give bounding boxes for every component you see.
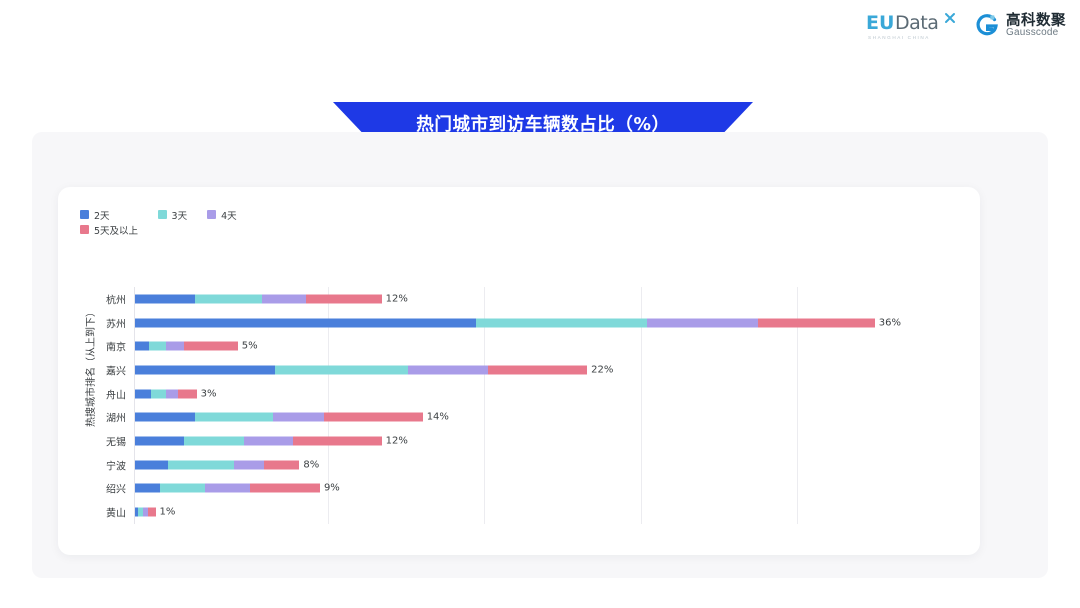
bar-segment-3天[interactable] <box>160 484 205 493</box>
bar-value-label: 8% <box>303 459 319 470</box>
stacked-bar[interactable] <box>135 342 238 351</box>
gausscode-text: 高科数聚 Gausscode <box>1006 14 1066 39</box>
gausscode-logo: 高科数聚 Gausscode <box>974 13 1066 39</box>
bar-segment-2天[interactable] <box>135 484 160 493</box>
bar-segment-3天[interactable] <box>195 294 263 303</box>
bar-row[interactable]: 宁波8% <box>58 453 980 477</box>
bar-row[interactable]: 苏州36% <box>58 311 980 335</box>
evdata-logotype-icon: E U Data <box>866 12 958 34</box>
bar-segment-4天[interactable] <box>262 294 305 303</box>
bar-value-label: 12% <box>386 435 408 446</box>
bar-value-label: 3% <box>201 388 217 399</box>
bar-segment-3天[interactable] <box>195 413 273 422</box>
bar-segment-4天[interactable] <box>166 342 184 351</box>
bar-segment-2天[interactable] <box>135 413 195 422</box>
bar-segment-2天[interactable] <box>135 365 275 374</box>
bar-row[interactable]: 舟山3% <box>58 382 980 406</box>
bar-row[interactable]: 湖州14% <box>58 405 980 429</box>
bar-row[interactable]: 无锡12% <box>58 429 980 453</box>
brand-bar: E U Data SHANGHAI CHINA 高科数聚 Gausscode <box>866 12 1066 40</box>
stacked-bar[interactable] <box>135 413 423 422</box>
bar-segment-5天及以上[interactable] <box>306 294 382 303</box>
gausscode-en-label: Gausscode <box>1006 28 1066 38</box>
bar-segment-5天及以上[interactable] <box>178 389 196 398</box>
stacked-bar[interactable] <box>135 318 875 327</box>
chart-card: 2天3天4天5天及以上 热搜城市排名（从上到下） 杭州12%苏州36%南京5%嘉… <box>58 187 980 555</box>
stacked-bar[interactable] <box>135 389 197 398</box>
bar-value-label: 1% <box>160 507 176 518</box>
bar-row[interactable]: 南京5% <box>58 334 980 358</box>
slide-root: E U Data SHANGHAI CHINA 高科数聚 Gausscode 热… <box>0 0 1080 608</box>
y-axis-tick-label: 无锡 <box>106 433 126 448</box>
y-axis-tick-label: 苏州 <box>106 315 126 330</box>
evdata-wordmark: E U Data <box>866 12 958 34</box>
gausscode-mark-icon <box>974 13 1000 39</box>
svg-text:Data: Data <box>895 12 938 34</box>
stacked-bar[interactable] <box>135 484 320 493</box>
bar-segment-4天[interactable] <box>166 389 178 398</box>
bar-segment-2天[interactable] <box>135 318 476 327</box>
bar-segment-5天及以上[interactable] <box>324 413 423 422</box>
bar-segment-4天[interactable] <box>244 436 293 445</box>
svg-text:U: U <box>879 12 894 34</box>
bar-value-label: 22% <box>591 364 613 375</box>
bar-row[interactable]: 杭州12% <box>58 287 980 311</box>
bar-segment-5天及以上[interactable] <box>250 484 320 493</box>
y-axis-tick-label: 嘉兴 <box>106 362 126 377</box>
bar-segment-4天[interactable] <box>408 365 488 374</box>
bar-value-label: 9% <box>324 483 340 494</box>
bar-segment-4天[interactable] <box>273 413 324 422</box>
bar-segment-5天及以上[interactable] <box>264 460 299 469</box>
bar-value-label: 36% <box>879 317 901 328</box>
bar-segment-2天[interactable] <box>135 294 195 303</box>
bar-segment-5天及以上[interactable] <box>184 342 237 351</box>
bar-segment-4天[interactable] <box>234 460 265 469</box>
bar-segment-5天及以上[interactable] <box>758 318 875 327</box>
chart-plot-area: 热搜城市排名（从上到下） 杭州12%苏州36%南京5%嘉兴22%舟山3%湖州14… <box>58 187 980 555</box>
bar-segment-3天[interactable] <box>151 389 165 398</box>
bar-value-label: 12% <box>386 293 408 304</box>
bar-segment-3天[interactable] <box>275 365 409 374</box>
y-axis-tick-label: 黄山 <box>106 505 126 520</box>
svg-text:E: E <box>866 12 878 34</box>
y-axis-tick-label: 舟山 <box>106 386 126 401</box>
bar-segment-2天[interactable] <box>135 389 151 398</box>
stacked-bar[interactable] <box>135 294 382 303</box>
evdata-tagline: SHANGHAI CHINA <box>868 35 930 40</box>
stacked-bar[interactable] <box>135 508 156 517</box>
bar-row[interactable]: 黄山1% <box>58 500 980 524</box>
bar-value-label: 5% <box>242 341 258 352</box>
bar-segment-2天[interactable] <box>135 436 184 445</box>
bar-segment-3天[interactable] <box>149 342 165 351</box>
bar-segment-2天[interactable] <box>135 342 149 351</box>
bar-segment-2天[interactable] <box>135 460 168 469</box>
stacked-bar[interactable] <box>135 436 382 445</box>
y-axis-tick-label: 南京 <box>106 339 126 354</box>
bar-row[interactable]: 嘉兴22% <box>58 358 980 382</box>
bar-segment-5天及以上[interactable] <box>148 508 155 517</box>
bar-value-label: 14% <box>427 412 449 423</box>
y-axis-tick-label: 绍兴 <box>106 481 126 496</box>
y-axis-tick-label: 杭州 <box>106 291 126 306</box>
bar-rows: 杭州12%苏州36%南京5%嘉兴22%舟山3%湖州14%无锡12%宁波8%绍兴9… <box>58 287 980 524</box>
bar-segment-4天[interactable] <box>647 318 758 327</box>
y-axis-tick-label: 湖州 <box>106 410 126 425</box>
stacked-bar[interactable] <box>135 365 587 374</box>
bar-row[interactable]: 绍兴9% <box>58 477 980 501</box>
bar-segment-3天[interactable] <box>184 436 244 445</box>
stacked-bar[interactable] <box>135 460 299 469</box>
evdata-logo: E U Data SHANGHAI CHINA <box>866 12 958 40</box>
bar-segment-3天[interactable] <box>476 318 647 327</box>
gausscode-cn-label: 高科数聚 <box>1006 14 1066 29</box>
bar-segment-4天[interactable] <box>205 484 250 493</box>
bar-segment-3天[interactable] <box>168 460 234 469</box>
bar-segment-5天及以上[interactable] <box>293 436 381 445</box>
bar-segment-5天及以上[interactable] <box>488 365 587 374</box>
y-axis-tick-label: 宁波 <box>106 457 126 472</box>
